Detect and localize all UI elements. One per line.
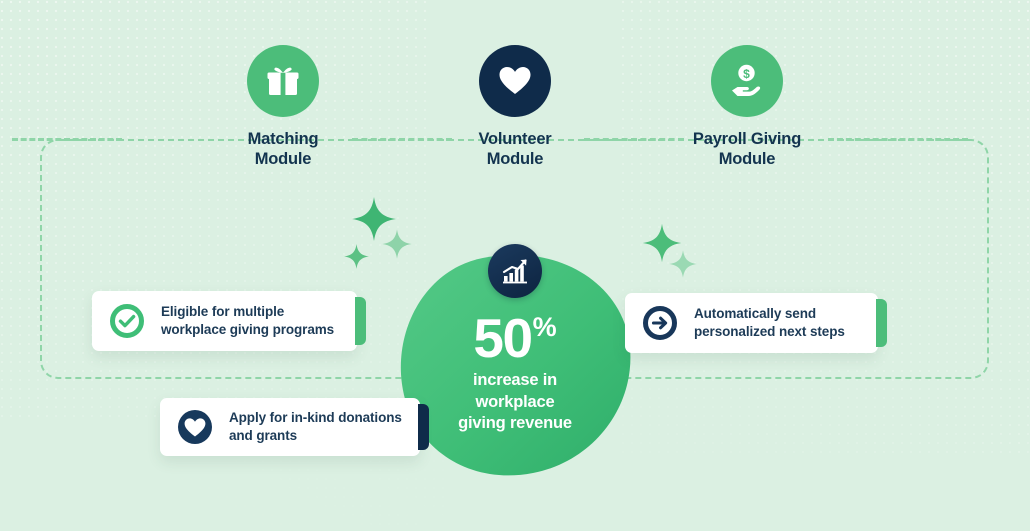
connector-line-left (12, 138, 122, 141)
statistic-unit: % (533, 314, 557, 341)
caption-line1: increase in (458, 370, 572, 391)
module-label-line2: Module (652, 149, 842, 169)
caption-line3: giving revenue (458, 413, 572, 434)
heart-icon (479, 45, 551, 117)
module-label-line1: Volunteer (420, 129, 610, 149)
check-circle-icon (108, 302, 146, 340)
card-text-line2: and grants (229, 427, 402, 445)
card-accent-bar (876, 299, 887, 347)
card-text: Eligible for multiple workplace giving p… (161, 303, 334, 339)
module-label: Volunteer Module (420, 129, 610, 169)
gift-icon (247, 45, 319, 117)
bar-chart-growth-icon (488, 244, 542, 298)
card-accent-bar (355, 297, 366, 345)
connector-line-right (828, 138, 968, 141)
heart-circle-icon (176, 408, 214, 446)
module-volunteer[interactable]: Volunteer Module (420, 45, 610, 169)
module-label: Payroll Giving Module (652, 129, 842, 169)
module-matching[interactable]: Matching Module (188, 45, 378, 169)
hand-money-icon: $ (711, 45, 783, 117)
card-text-line2: workplace giving programs (161, 321, 334, 339)
module-label-line1: Payroll Giving (652, 129, 842, 149)
arrow-right-circle-icon (641, 304, 679, 342)
statistic-caption: increase in workplace giving revenue (458, 370, 572, 433)
card-text-line1: Apply for in-kind donations (229, 409, 402, 427)
caption-line2: workplace (458, 392, 572, 413)
module-label-line2: Module (420, 149, 610, 169)
module-label-line1: Matching (188, 129, 378, 149)
card-text-line2: personalized next steps (694, 323, 845, 341)
module-payroll-giving[interactable]: $ Payroll Giving Module (652, 45, 842, 169)
card-apply[interactable]: Apply for in-kind donations and grants (160, 398, 420, 456)
card-text-line1: Automatically send (694, 305, 845, 323)
card-text: Automatically send personalized next ste… (694, 305, 845, 341)
card-eligible[interactable]: Eligible for multiple workplace giving p… (92, 291, 357, 351)
card-text: Apply for in-kind donations and grants (229, 409, 402, 445)
statistic-value: 50 (473, 312, 531, 364)
card-accent-bar (418, 404, 429, 450)
module-label: Matching Module (188, 129, 378, 169)
card-automatic[interactable]: Automatically send personalized next ste… (625, 293, 878, 353)
card-text-line1: Eligible for multiple (161, 303, 334, 321)
statistic-line: 50 % (473, 312, 556, 364)
svg-text:$: $ (743, 67, 750, 81)
infographic-canvas: Matching Module Volunteer Module $ Payro… (0, 0, 1030, 531)
module-label-line2: Module (188, 149, 378, 169)
